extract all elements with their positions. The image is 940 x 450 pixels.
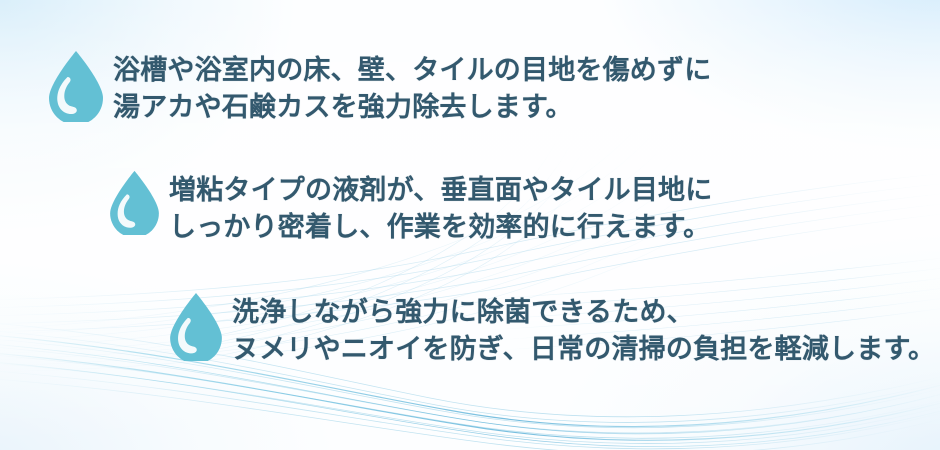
feature-item: 洗浄しながら強力に除菌できるため、 ヌメリやニオイを防ぎ、日常の清掃の負担を軽減… bbox=[168, 292, 935, 368]
feature-line: しっかり密着し、作業を効率的に行えます。 bbox=[169, 209, 712, 246]
feature-line: ヌメリやニオイを防ぎ、日常の清掃の負担を軽減します。 bbox=[232, 331, 935, 368]
water-droplet-icon bbox=[108, 170, 161, 235]
feature-line: 浴槽や浴室内の床、壁、タイルの目地を傷めずに bbox=[113, 52, 711, 89]
feature-line: 湯アカや石鹸カスを強力除去します。 bbox=[113, 89, 711, 126]
water-droplet-icon bbox=[168, 292, 224, 361]
feature-text: 浴槽や浴室内の床、壁、タイルの目地を傷めずに 湯アカや石鹸カスを強力除去します。 bbox=[113, 50, 711, 126]
feature-text: 増粘タイプの液剤が、垂直面やタイル目地に しっかり密着し、作業を効率的に行えます… bbox=[169, 170, 712, 246]
promo-banner: 浴槽や浴室内の床、壁、タイルの目地を傷めずに 湯アカや石鹸カスを強力除去します。… bbox=[0, 0, 940, 450]
feature-line: 増粘タイプの液剤が、垂直面やタイル目地に bbox=[169, 172, 712, 209]
feature-text: 洗浄しながら強力に除菌できるため、 ヌメリやニオイを防ぎ、日常の清掃の負担を軽減… bbox=[232, 292, 935, 368]
feature-item: 浴槽や浴室内の床、壁、タイルの目地を傷めずに 湯アカや石鹸カスを強力除去します。 bbox=[47, 50, 711, 126]
water-droplet-icon bbox=[47, 50, 105, 122]
feature-item: 増粘タイプの液剤が、垂直面やタイル目地に しっかり密着し、作業を効率的に行えます… bbox=[108, 170, 712, 246]
feature-line: 洗浄しながら強力に除菌できるため、 bbox=[232, 294, 935, 331]
feature-list: 浴槽や浴室内の床、壁、タイルの目地を傷めずに 湯アカや石鹸カスを強力除去します。… bbox=[0, 0, 940, 450]
